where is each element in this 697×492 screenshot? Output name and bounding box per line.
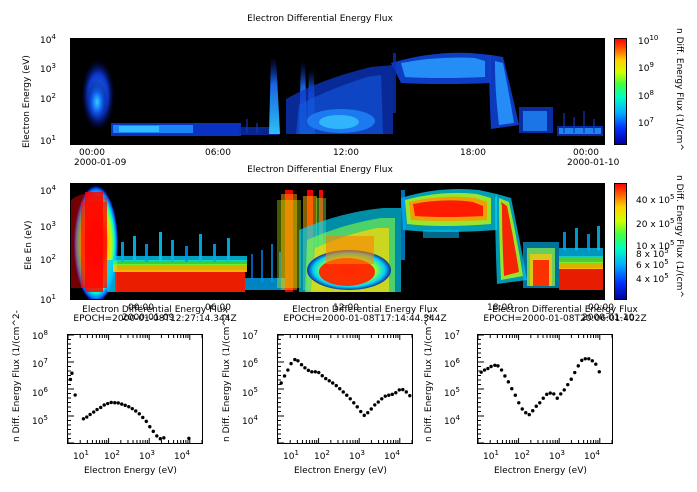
spectrum-middle-points (278, 335, 412, 443)
panel-mid-spectrogram-image (71, 184, 604, 299)
panel-mid-ylabel: Ele En (eV) (24, 220, 34, 270)
panel-mid-cbtick-5: 4 x 105 (636, 272, 669, 285)
spectrum-middle-subtitle: EPOCH=2000-01-08T17:14:44.344Z (250, 314, 480, 325)
spectrum-middle-xtick-1: 102 (314, 449, 330, 462)
panel-top-ytick-2: 102 (40, 92, 56, 105)
panel-top-ylabel: Electron Energy (eV) (22, 55, 32, 148)
panel-mid-cbtick-4: 6 x 105 (636, 258, 669, 271)
spectrum-right-ytick-0: 107 (444, 329, 460, 342)
spectrum-right-ytick-1: 106 (444, 357, 460, 370)
spectrum-left-xtick-2: 103 (139, 449, 155, 462)
spectrum-middle-xtick-0: 101 (283, 449, 299, 462)
panel-top-colorbar-label: n Diff. Energy Flux (1/(cm^ (674, 28, 684, 151)
panel-mid-colorbar-label: n Diff. Energy Flux (1/(cm^ (674, 175, 684, 298)
spectrum-middle-ytick-2: 105 (242, 386, 258, 399)
panel-mid-ytick-3: 103 (40, 220, 56, 233)
spectrum-left-ytick-1: 107 (32, 357, 48, 370)
panel-top-xtick-1: 06:00 (205, 148, 231, 158)
panel-mid-cbtick-1: 20 x 105 (636, 217, 674, 230)
panel-top-cbtick-1: 109 (638, 61, 654, 74)
spectrum-right-ytick-3: 104 (444, 414, 460, 427)
panel-top-cbtick-0: 1010 (638, 34, 658, 47)
spectrum-right-xtick-0: 101 (483, 449, 499, 462)
spectrum-left-xtick-1: 102 (104, 449, 120, 462)
panel-top-xsub-0: 2000-01-09 (74, 158, 126, 168)
panel-top-spectrogram-image (71, 39, 604, 144)
spectrum-left-ylabel: n Diff. Energy Flux (1/(cm^2- (12, 310, 22, 442)
spectrum-right-xtick-2: 103 (549, 449, 565, 462)
spectrum-left-subtitle: EPOCH=2000-01-08T12:27:14.344Z (40, 314, 270, 325)
spectrum-middle-xlabel: Electron Energy (eV) (294, 466, 387, 476)
panel-top-plot-area (70, 38, 605, 145)
panel-mid-ytick-4: 104 (40, 184, 56, 197)
spectrum-right-xtick-1: 102 (514, 449, 530, 462)
spectrum-left-xtick-0: 101 (73, 449, 89, 462)
spectrum-right-subtitle: EPOCH=2000-01-08T20:06:01.402Z (450, 314, 680, 325)
panel-mid-cbtick-0: 40 x 105 (636, 193, 674, 206)
spectrum-left-ytick-2: 106 (32, 386, 48, 399)
spectrum-left-plot-area (67, 334, 203, 444)
spectrum-middle-ylabel: n Diff. Energy Flux (1/(cm^2- (222, 310, 232, 442)
panel-top-xtick-4: 00:00 (573, 148, 599, 158)
panel-top-ytick-1: 101 (40, 134, 56, 147)
panel-top-cbtick-2: 108 (638, 89, 654, 102)
panel-top-xtick-2: 12:00 (333, 148, 359, 158)
panel-top-colorbar (614, 38, 627, 145)
spectrum-left-ytick-3: 105 (32, 414, 48, 427)
spectrum-right-xlabel: Electron Energy (eV) (494, 466, 587, 476)
spectrum-left-points (68, 335, 202, 443)
spectrum-middle-plot-area (277, 334, 413, 444)
spectrum-middle-ytick-1: 106 (242, 357, 258, 370)
panel-top-cbtick-3: 107 (638, 116, 654, 129)
panel-top-xtick-0: 00:00 (79, 148, 105, 158)
panel-mid-colorbar (614, 183, 627, 300)
spectrum-middle-ytick-0: 107 (242, 329, 258, 342)
panel-mid-ytick-2: 102 (40, 253, 56, 266)
spectrum-right-points (478, 335, 612, 443)
panel-top-ytick-4: 104 (40, 33, 56, 46)
panel-mid-title: Electron Differential Energy Flux (170, 165, 470, 176)
spectrum-middle-xtick-2: 103 (349, 449, 365, 462)
spectrum-right-plot-area (477, 334, 613, 444)
panel-mid-plot-area (70, 183, 605, 300)
spectrum-right-ylabel: n Diff. Energy Flux (1/(cm^2- (424, 310, 434, 442)
panel-top-xsub-4: 2000-01-10 (567, 158, 619, 168)
spectrum-left-ytick-0: 108 (32, 329, 48, 342)
spectrum-left-xlabel: Electron Energy (eV) (84, 466, 177, 476)
panel-top-title: Electron Differential Energy Flux (170, 14, 470, 25)
spectrum-right-ytick-2: 105 (444, 386, 460, 399)
panel-top-xtick-3: 18:00 (460, 148, 486, 158)
spectrum-left-xtick-3: 104 (174, 449, 190, 462)
panel-top-ytick-3: 103 (40, 62, 56, 75)
spectrum-right-xtick-3: 104 (584, 449, 600, 462)
spectrum-middle-ytick-3: 104 (242, 414, 258, 427)
spectrum-middle-xtick-3: 104 (384, 449, 400, 462)
